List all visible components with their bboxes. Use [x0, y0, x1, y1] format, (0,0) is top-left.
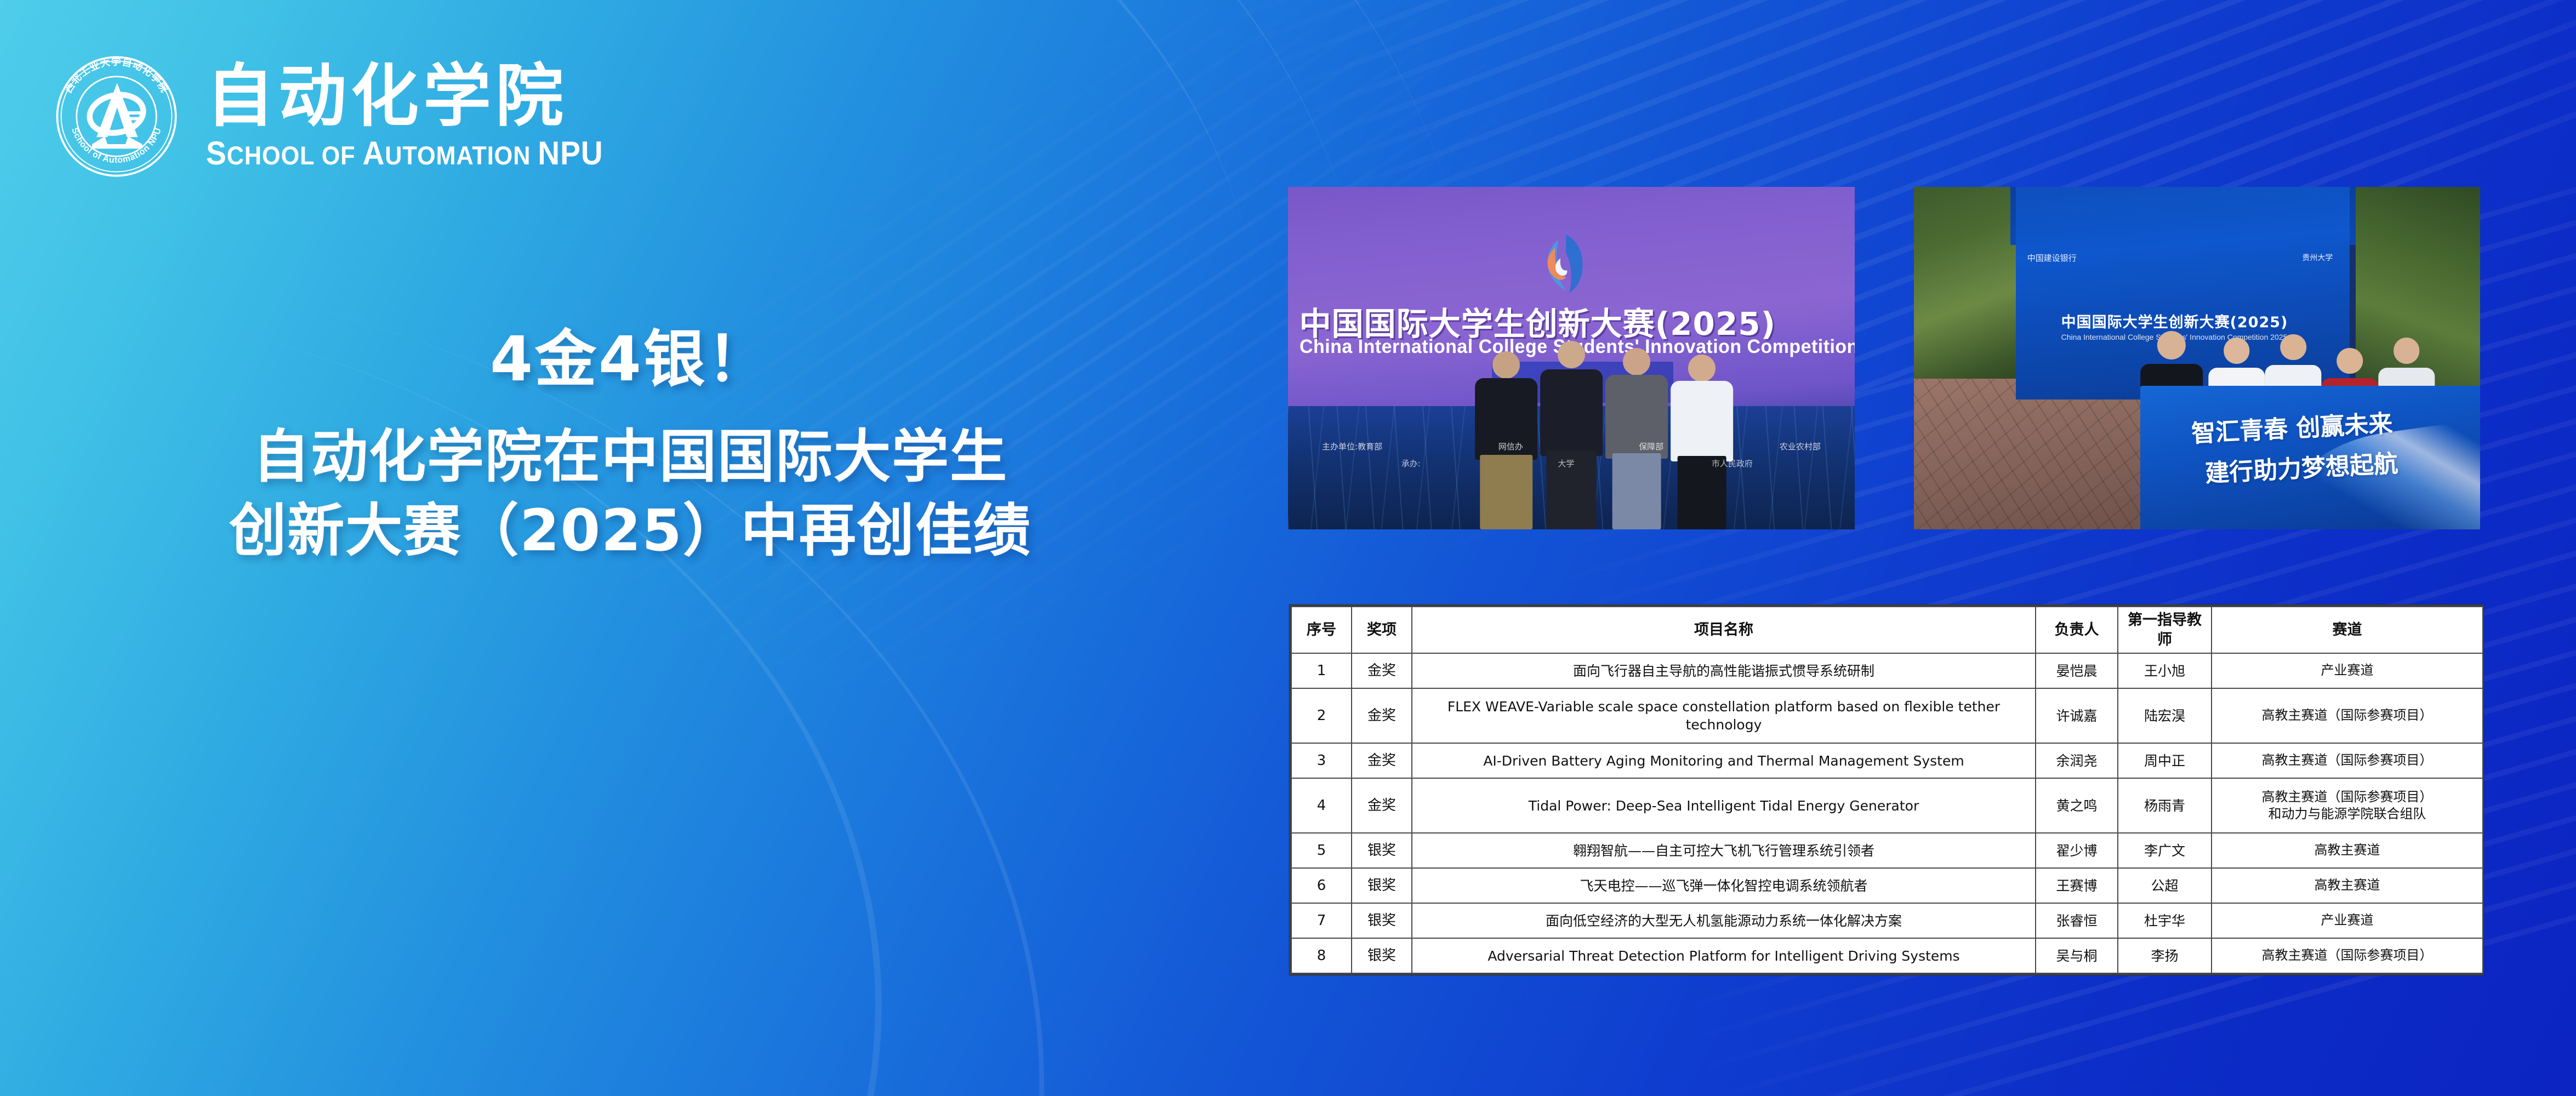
cell-leader: 黄之鸣 [2036, 778, 2118, 833]
cell-track: 高教主赛道 [2212, 833, 2483, 868]
table-row: 3 金奖 AI-Driven Battery Aging Monitoring … [1291, 743, 2483, 778]
cell-award: 银奖 [1352, 938, 1412, 973]
wordmark-en-automation: UTOMATION [385, 141, 538, 170]
cell-leader: 吴与桐 [2036, 938, 2118, 973]
cell-track: 高教主赛道（国际参赛项目） 和动力与能源学院联合组队 [2212, 778, 2483, 833]
cell-award: 金奖 [1352, 778, 1412, 833]
school-wordmark: 自动化学院 SCHOOL OF AUTOMATION NPU [206, 62, 638, 170]
photo-competition-backdrop: 中国国际大学生创新大赛(2025) China International Co… [1288, 187, 1855, 529]
competition-emblem-icon [1532, 231, 1600, 296]
credit-moa: 农业农村部 [1780, 441, 1821, 452]
ccb-bank-logo-icon: 中国建设银行 [2027, 252, 2077, 264]
wordmark-en-school: CHOOL OF [227, 141, 363, 170]
cell-award: 金奖 [1352, 653, 1412, 688]
cell-advisor: 杜宇华 [2118, 903, 2212, 938]
cell-advisor: 陆宏淏 [2118, 688, 2212, 743]
headline-line-3: 创新大赛（2025）中再创佳绩 [0, 494, 1261, 568]
cell-award: 银奖 [1352, 903, 1412, 938]
cell-leader: 王赛博 [2036, 868, 2118, 903]
headline-line-2: 自动化学院在中国国际大学生 [0, 420, 1261, 494]
cell-index: 5 [1291, 833, 1352, 868]
background-arc [0, 175, 1121, 1096]
cell-advisor: 王小旭 [2118, 653, 2212, 688]
cell-track: 高教主赛道（国际参赛项目） [2212, 938, 2483, 973]
school-logo: 西北工业大学自动化学院 School of Automation NPU 自动化… [52, 52, 638, 181]
person-head [2280, 334, 2306, 361]
col-header-index: 序号 [1291, 607, 1352, 653]
cell-advisor: 李广文 [2118, 833, 2212, 868]
cell-track: 产业赛道 [2212, 903, 2483, 938]
cell-index: 4 [1291, 778, 1352, 833]
person-head [2157, 331, 2186, 359]
person-head [2393, 338, 2420, 364]
cell-leader: 晏恺晨 [2036, 653, 2118, 688]
table-row: 1 金奖 面向飞行器自主导航的高性能谐振式惯导系统研制 晏恺晨 王小旭 产业赛道 [1291, 653, 2483, 688]
table-row: 6 银奖 飞天电控——巡飞弹一体化智控电调系统领航者 王赛博 公超 高教主赛道 [1291, 868, 2483, 903]
npu-seal-icon: 西北工业大学自动化学院 School of Automation NPU [52, 52, 181, 181]
cell-leader: 许诚嘉 [2036, 688, 2118, 743]
cell-project: FLEX WEAVE-Variable scale space constell… [1412, 688, 2036, 743]
cell-award: 金奖 [1352, 688, 1412, 743]
results-table-body: 1 金奖 面向飞行器自主导航的高性能谐振式惯导系统研制 晏恺晨 王小旭 产业赛道… [1291, 653, 2483, 973]
cell-award: 银奖 [1352, 868, 1412, 903]
photo-right-booth-title-cn: 中国国际大学生创新大赛(2025) [2061, 310, 2288, 332]
table-row: 4 金奖 Tidal Power: Deep-Sea Intelligent T… [1291, 778, 2483, 833]
guizhou-university-logo-icon: 贵州大学 [2302, 252, 2333, 263]
col-header-leader: 负责人 [2036, 607, 2118, 653]
cell-index: 8 [1291, 938, 1352, 973]
cell-track: 高教主赛道 [2212, 868, 2483, 903]
person-head [1492, 351, 1520, 379]
cell-index: 3 [1291, 743, 1352, 778]
photo-left-person [1540, 341, 1603, 529]
cell-advisor: 公超 [2118, 868, 2212, 903]
cell-advisor: 李扬 [2118, 938, 2212, 973]
photo-left-person [1605, 348, 1668, 529]
cell-track: 高教主赛道（国际参赛项目） [2212, 743, 2483, 778]
photo-right-service-counter: 智汇青春 创赢未来 建行助力梦想起航 [2140, 386, 2480, 530]
cell-index: 2 [1291, 688, 1352, 743]
table-row: 7 银奖 面向低空经济的大型无人机氢能源动力系统一体化解决方案 张睿恒 杜宇华 … [1291, 903, 2483, 938]
cell-award: 银奖 [1352, 833, 1412, 868]
awards-results-table: 序号 奖项 项目名称 负责人 第一指导教师 赛道 1 金奖 面向飞行器自主导航的… [1289, 604, 2484, 975]
table-row: 5 银奖 翱翔智航——自主可控大飞机飞行管理系统引领者 翟少博 李广文 高教主赛… [1291, 833, 2483, 868]
wordmark-chinese: 自动化学院 [206, 62, 638, 130]
cell-project: 面向飞行器自主导航的高性能谐振式惯导系统研制 [1412, 653, 2036, 688]
col-header-track: 赛道 [2212, 607, 2483, 653]
cell-index: 6 [1291, 868, 1352, 903]
col-header-project: 项目名称 [1412, 607, 2036, 653]
results-table-head: 序号 奖项 项目名称 负责人 第一指导教师 赛道 [1291, 607, 2483, 653]
photo-right-brick-ground [1914, 379, 2174, 529]
wordmark-en-npu: NPU [538, 135, 603, 172]
table-row: 2 金奖 FLEX WEAVE-Variable scale space con… [1291, 688, 2483, 743]
table-row: 8 银奖 Adversarial Threat Detection Platfo… [1291, 938, 2483, 973]
cell-project: 面向低空经济的大型无人机氢能源动力系统一体化解决方案 [1412, 903, 2036, 938]
results-table: 序号 奖项 项目名称 负责人 第一指导教师 赛道 1 金奖 面向飞行器自主导航的… [1291, 606, 2483, 974]
cell-award: 金奖 [1352, 743, 1412, 778]
cell-project: Adversarial Threat Detection Platform fo… [1412, 938, 2036, 973]
cell-leader: 翟少博 [2036, 833, 2118, 868]
person-head [1688, 355, 1716, 382]
person-head [1558, 341, 1585, 368]
col-header-award: 奖项 [1352, 607, 1412, 653]
credit-mohrss: 保障部 [1639, 441, 1663, 452]
headline-line-1: 4金4银！ [0, 329, 1261, 390]
credit-host-government: 市人民政府 [1712, 458, 1753, 469]
cell-leader: 张睿恒 [2036, 903, 2118, 938]
credit-host-university: 大学 [1558, 458, 1574, 469]
person-head [2224, 338, 2250, 364]
cell-advisor: 杨雨青 [2118, 778, 2212, 833]
cell-index: 7 [1291, 903, 1352, 938]
cell-track: 高教主赛道（国际参赛项目） [2212, 688, 2483, 743]
person-head [1623, 348, 1650, 375]
cell-project: 翱翔智航——自主可控大飞机飞行管理系统引领者 [1412, 833, 2036, 868]
credit-host-label: 承办: [1401, 458, 1421, 469]
table-header-row: 序号 奖项 项目名称 负责人 第一指导教师 赛道 [1291, 607, 2483, 653]
cell-project: Tidal Power: Deep-Sea Intelligent Tidal … [1412, 778, 2036, 833]
photo-service-booth: 中国建设银行 贵州大学 中国国际大学生创新大赛(2025) China Inte… [1914, 187, 2480, 529]
cell-track: 产业赛道 [2212, 653, 2483, 688]
photo-left-credits-line-2: 承办: 大学 市人民政府 [1401, 458, 1753, 469]
cell-advisor: 周中正 [2118, 743, 2212, 778]
col-header-advisor: 第一指导教师 [2118, 607, 2212, 653]
wordmark-english: SCHOOL OF AUTOMATION NPU [206, 136, 603, 170]
photo-right-sponsor-logos: 贵州大学 [2302, 252, 2333, 263]
cell-project: AI-Driven Battery Aging Monitoring and T… [1412, 743, 2036, 778]
wordmark-en-cap-a: A [362, 135, 385, 172]
wordmark-en-cap-s: S [206, 135, 227, 172]
person-head [2337, 348, 2363, 374]
cell-project: 飞天电控——巡飞弹一体化智控电调系统领航者 [1412, 868, 2036, 903]
photo-left-credits-line-1: 主办单位:教育部 网信办 保障部 农业农村部 [1322, 441, 1821, 452]
credit-cac: 网信办 [1498, 441, 1523, 452]
cell-index: 1 [1291, 653, 1352, 688]
cell-leader: 余润尧 [2036, 743, 2118, 778]
poster-canvas: 西北工业大学自动化学院 School of Automation NPU 自动化… [0, 0, 2576, 1096]
credit-organizer: 主办单位:教育部 [1322, 441, 1382, 452]
headline-block: 4金4银！ 自动化学院在中国国际大学生 创新大赛（2025）中再创佳绩 [0, 329, 1261, 568]
